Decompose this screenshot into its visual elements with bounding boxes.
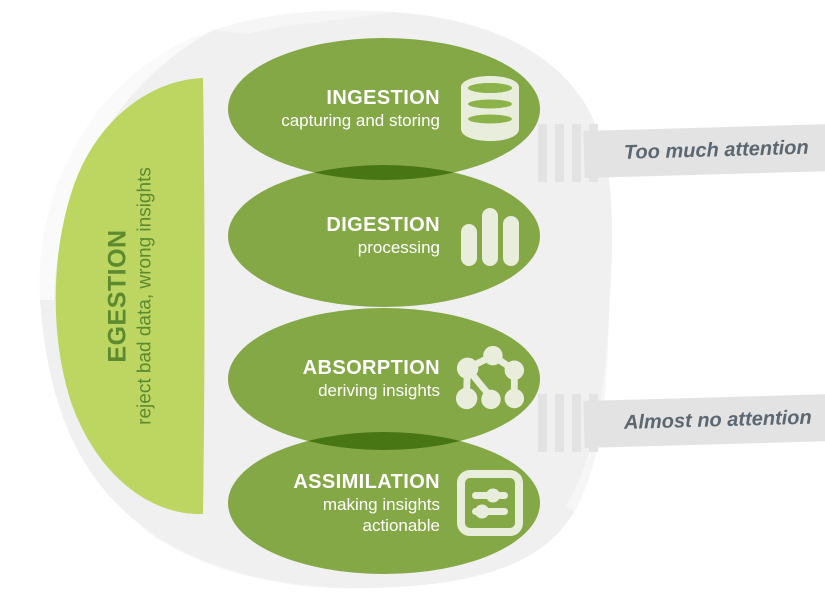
stage-text: DIGESTION processing (326, 214, 440, 258)
stage-subtitle-line1: making insights (293, 495, 440, 515)
data-lifecycle-diagram: EGESTION reject bad data, wrong insights… (0, 0, 825, 592)
stage-subtitle-line2: actionable (293, 516, 440, 536)
stage-subtitle: deriving insights (303, 381, 440, 401)
stage-title: ASSIMILATION (293, 471, 440, 494)
stage-title: DIGESTION (326, 214, 440, 237)
egestion-leaf-shape (55, 72, 205, 520)
stage-title: ABSORPTION (303, 357, 440, 380)
bar-chart-icon (454, 198, 526, 274)
annotation-too-much-attention[interactable]: Too much attention (583, 124, 825, 178)
stage-subtitle: processing (326, 238, 440, 258)
stage-ingestion[interactable]: INGESTION capturing and storing (228, 38, 540, 180)
egestion-panel[interactable]: EGESTION reject bad data, wrong insights (55, 72, 205, 520)
stage-absorption[interactable]: ABSORPTION deriving insights (228, 308, 540, 450)
stage-text: INGESTION capturing and storing (281, 87, 440, 131)
stage-title: INGESTION (281, 87, 440, 110)
annotation-almost-no-attention[interactable]: Almost no attention (583, 394, 825, 448)
dash-segment (572, 394, 581, 452)
dash-segment (572, 124, 581, 182)
stage-digestion[interactable]: DIGESTION processing (228, 165, 540, 307)
stage-subtitle: capturing and storing (281, 111, 440, 131)
annotation-label: Almost no attention (624, 407, 812, 435)
dash-segment (555, 394, 564, 452)
stage-assimilation[interactable]: ASSIMILATION making insights actionable (228, 432, 540, 574)
stage-text: ABSORPTION deriving insights (303, 357, 440, 401)
database-icon (454, 71, 526, 147)
dash-segment (555, 124, 564, 182)
annotation-label: Too much attention (624, 137, 809, 165)
stage-text: ASSIMILATION making insights actionable (293, 471, 440, 536)
network-tree-icon (454, 341, 526, 417)
sliders-icon (454, 465, 526, 541)
